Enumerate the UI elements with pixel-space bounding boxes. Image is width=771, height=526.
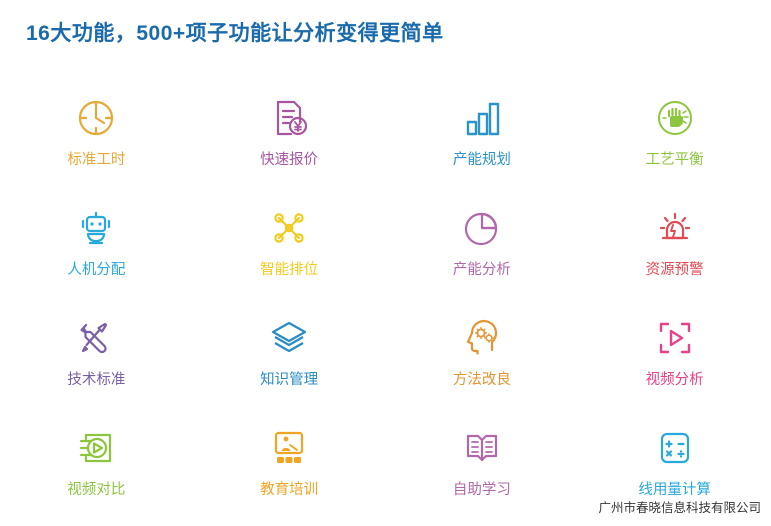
feature-item-knowledge-management[interactable]: 知识管理 [193, 306, 386, 416]
feature-label: 视频分析 [646, 373, 704, 388]
feature-item-quick-quote[interactable]: 快速报价 [193, 86, 386, 196]
feature-item-self-learning[interactable]: 自助学习 [386, 416, 579, 526]
feature-label: 自助学习 [453, 483, 511, 498]
pie-chart-icon [453, 200, 511, 256]
feature-overview-page: 16大功能，500+项子功能让分析变得更简单 标准工时 [0, 0, 771, 522]
classroom-training-icon [260, 420, 318, 476]
bar-chart-icon [453, 90, 511, 146]
feature-item-resource-alert[interactable]: 资源预警 [578, 196, 771, 306]
feature-label: 标准工时 [67, 153, 125, 168]
feature-item-education-training[interactable]: 教育培训 [193, 416, 386, 526]
feature-item-man-machine-allocation[interactable]: 人机分配 [0, 196, 193, 306]
feature-label: 方法改良 [453, 373, 511, 388]
feature-item-standard-time[interactable]: 标准工时 [0, 86, 193, 196]
feature-item-capacity-analysis[interactable]: 产能分析 [386, 196, 579, 306]
feature-label: 智能排位 [260, 263, 318, 278]
feature-label: 线用量计算 [638, 483, 711, 498]
clock-icon [67, 90, 125, 146]
video-play-frame-icon [646, 310, 704, 366]
head-gears-icon [453, 310, 511, 366]
feature-item-video-comparison[interactable]: 视频对比 [0, 416, 193, 526]
company-watermark: 广州市春晓信息科技有限公司 [598, 497, 761, 516]
layers-stack-icon [260, 310, 318, 366]
feature-item-method-improvement[interactable]: 方法改良 [386, 306, 579, 416]
feature-item-technical-standard[interactable]: 技术标准 [0, 306, 193, 416]
feature-label: 资源预警 [646, 263, 704, 278]
feature-label: 视频对比 [67, 483, 125, 498]
network-nodes-icon [260, 200, 318, 256]
fist-circle-icon [646, 90, 704, 146]
feature-label: 快速报价 [260, 153, 318, 168]
video-compare-icon [67, 420, 125, 476]
page-title: 16大功能，500+项子功能让分析变得更简单 [26, 17, 444, 47]
feature-label: 技术标准 [67, 373, 125, 388]
wrench-hammer-icon [67, 310, 125, 366]
feature-item-process-balance[interactable]: 工艺平衡 [578, 86, 771, 196]
open-book-icon [453, 420, 511, 476]
feature-item-capacity-planning[interactable]: 产能规划 [386, 86, 579, 196]
feature-label: 工艺平衡 [646, 153, 704, 168]
feature-grid: 标准工时 快速报价 [0, 86, 771, 526]
feature-label: 知识管理 [260, 373, 318, 388]
calculator-icon [646, 420, 704, 476]
feature-item-smart-sequencing[interactable]: 智能排位 [193, 196, 386, 306]
feature-label: 人机分配 [67, 263, 125, 278]
feature-label: 教育培训 [260, 483, 318, 498]
quote-document-yen-icon [260, 90, 318, 146]
feature-label: 产能规划 [453, 153, 511, 168]
alarm-siren-icon [646, 200, 704, 256]
feature-label: 产能分析 [453, 263, 511, 278]
robot-icon [67, 200, 125, 256]
feature-item-video-analysis[interactable]: 视频分析 [578, 306, 771, 416]
